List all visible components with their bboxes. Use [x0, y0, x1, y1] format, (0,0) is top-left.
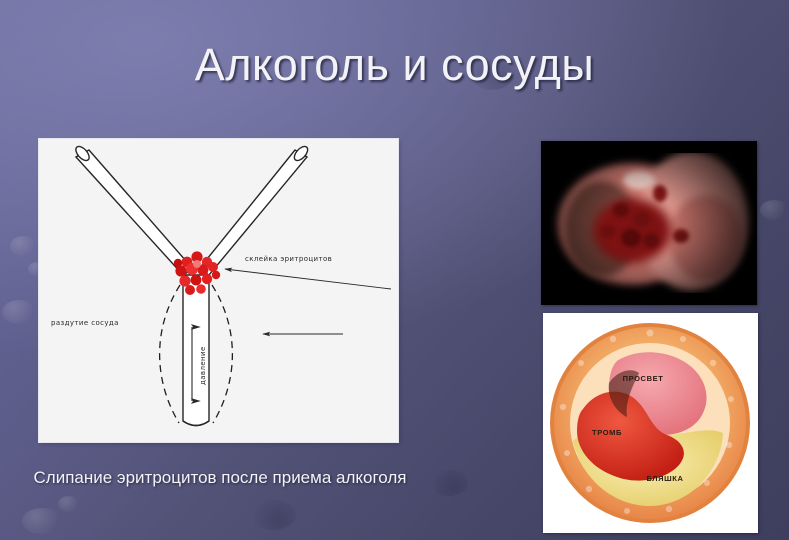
background-bubble — [430, 470, 468, 496]
vessel-branch-left — [73, 144, 193, 275]
label-swelling-text: раздутие сосуда — [51, 319, 119, 327]
slide-canvas: Алкоголь и сосуды — [0, 0, 789, 540]
photo-vignette — [541, 141, 757, 305]
capillary-microphotograph — [541, 141, 757, 305]
photo-letterbox — [541, 293, 757, 305]
background-bubble — [250, 500, 296, 530]
label-plaque: БЛЯШКА — [647, 474, 684, 483]
label-clump-text: склейка эритроцитов — [245, 255, 332, 263]
label-lumen: ПРОСВЕТ — [623, 374, 664, 383]
background-bubble — [10, 236, 36, 256]
background-bubble — [760, 200, 788, 220]
label-clump-leader: склейка эритроцитов — [225, 255, 391, 289]
background-bubble — [58, 496, 80, 512]
background-bubble — [2, 300, 36, 324]
photo-letterbox — [541, 141, 757, 153]
label-thrombus: ТРОМБ — [592, 428, 622, 437]
page-title: Алкоголь и сосуды — [0, 38, 789, 92]
label-pressure-text: давление — [199, 346, 207, 385]
background-bubble — [22, 508, 62, 534]
diagram-caption: Слипание эритроцитов после приема алкого… — [20, 468, 420, 488]
vessel-junction-diagram: склейка эритроцитов раздутие сосуда давл… — [39, 139, 398, 442]
artery-cross-section: ПРОСВЕТ ТРОМБ БЛЯШКА — [543, 313, 758, 533]
